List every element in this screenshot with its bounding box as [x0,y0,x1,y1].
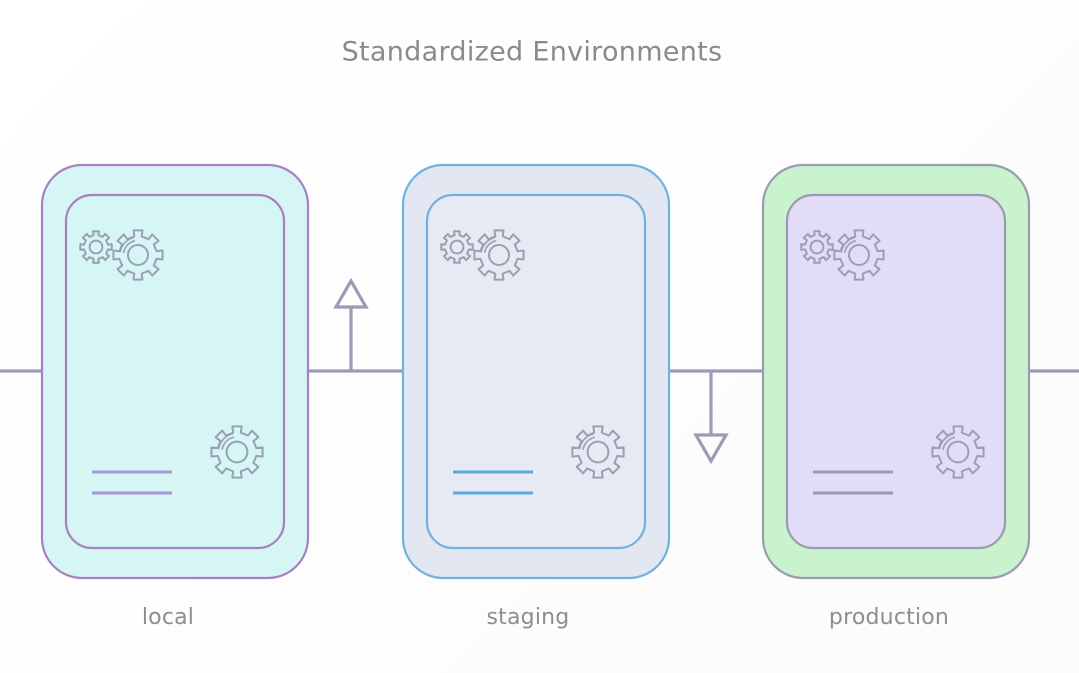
card-staging[interactable]: staging [403,165,669,630]
card-label-local: local [142,605,194,630]
deploy-down-arrow [696,371,726,461]
card-local[interactable]: local [42,165,308,630]
environments-diagram: localstagingproduction Standardized Envi… [0,0,1079,673]
deploy-down-arrow-head [696,435,726,461]
page-title: Standardized Environments [342,37,723,68]
card-local-inner-panel[interactable] [66,195,284,548]
card-label-staging: staging [487,605,570,630]
cards-group: localstagingproduction [42,165,1029,630]
card-staging-inner-panel[interactable] [427,195,645,548]
promote-up-arrow-head [336,281,366,307]
diagram-canvas: localstagingproduction Standardized Envi… [0,0,1079,673]
card-production-inner-panel[interactable] [787,195,1005,548]
card-label-production: production [829,605,949,630]
card-production[interactable]: production [763,165,1029,630]
promote-up-arrow [336,281,366,371]
